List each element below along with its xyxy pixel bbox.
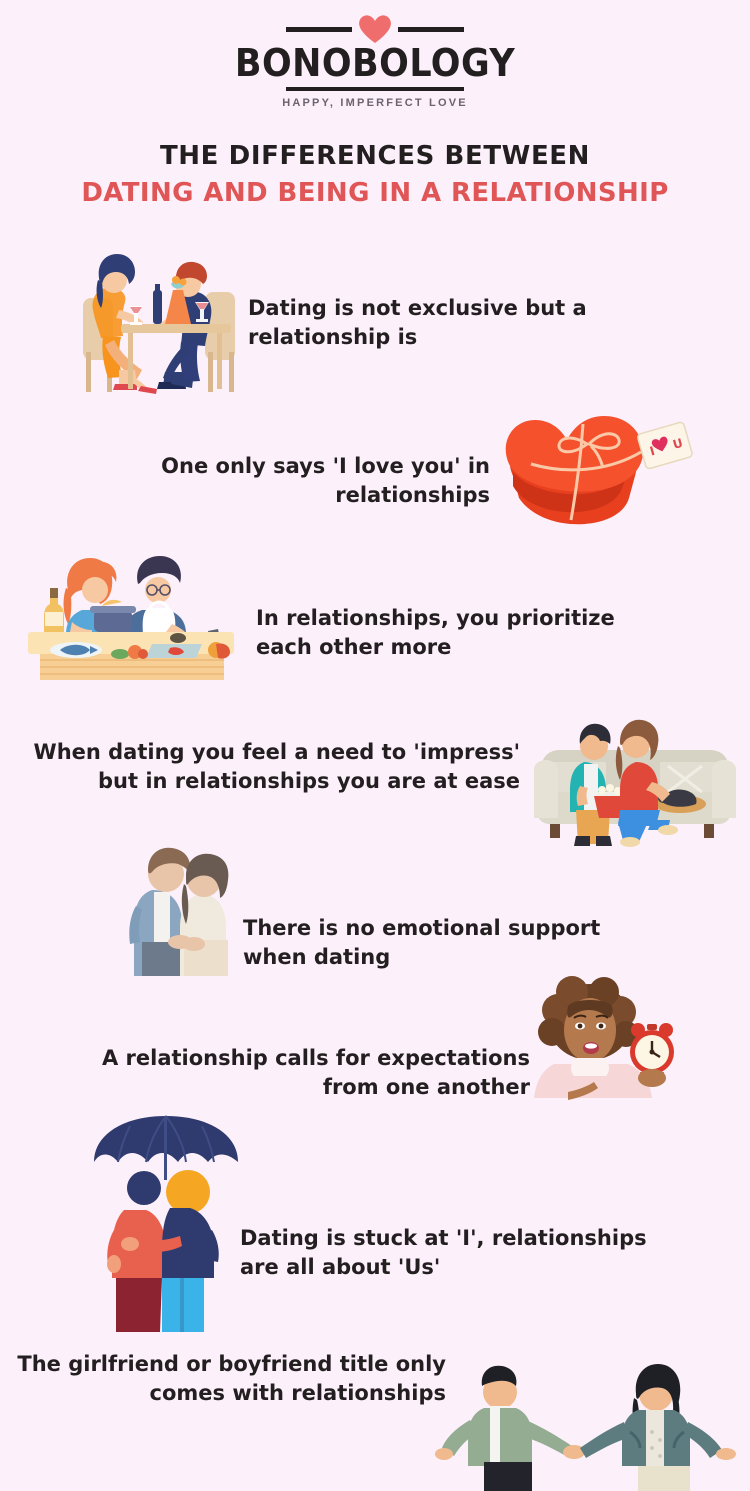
- logo-top-row: [0, 14, 750, 44]
- couple-under-umbrella-illustration: [84, 1112, 249, 1332]
- dinner-date-illustration: [45, 240, 245, 392]
- item-8-caption: The girlfriend or boyfriend title only c…: [0, 1350, 446, 1408]
- item-2: One only says 'I love you' in relationsh…: [0, 396, 750, 541]
- couple-holding-hands-illustration: [438, 1340, 750, 1491]
- item-7: Dating is stuck at 'I', relationships ar…: [0, 1112, 750, 1332]
- brand-name: BONOBOLOGY: [30, 42, 720, 84]
- brand-tagline: HAPPY, IMPERFECT LOVE: [0, 97, 750, 109]
- logo-underline: [286, 87, 464, 91]
- item-5-caption: There is no emotional support when datin…: [243, 914, 613, 972]
- infographic-page: BONOBOLOGY HAPPY, IMPERFECT LOVE THE DIF…: [0, 0, 750, 1491]
- item-3: In relationships, you prioritize each ot…: [0, 528, 750, 683]
- logo-left-rule: [286, 27, 352, 32]
- couple-on-couch-illustration: [532, 704, 737, 846]
- heart-icon: [358, 14, 392, 44]
- couple-embracing-illustration: [122, 846, 262, 976]
- item-7-caption: Dating is stuck at 'I', relationships ar…: [240, 1224, 690, 1282]
- item-1-caption: Dating is not exclusive but a relationsh…: [248, 294, 598, 352]
- item-6: A relationship calls for expectations fr…: [0, 980, 750, 1100]
- item-4: When dating you feel a need to 'impress'…: [0, 700, 750, 848]
- heart-gift-box-illustration: I U: [495, 402, 720, 542]
- item-5: There is no emotional support when datin…: [0, 846, 750, 978]
- title-line-2: DATING AND BEING IN A RELATIONSHIP: [0, 176, 750, 210]
- item-8: The girlfriend or boyfriend title only c…: [0, 1330, 750, 1491]
- item-1: Dating is not exclusive but a relationsh…: [0, 236, 750, 396]
- woman-with-alarm-clock-illustration: [528, 980, 680, 1098]
- item-4-caption: When dating you feel a need to 'impress'…: [10, 738, 520, 796]
- page-title: THE DIFFERENCES BETWEEN DATING AND BEING…: [0, 140, 750, 210]
- logo-right-rule: [398, 27, 464, 32]
- item-3-caption: In relationships, you prioritize each ot…: [256, 604, 626, 662]
- title-line-1: THE DIFFERENCES BETWEEN: [0, 140, 750, 172]
- brand-logo: BONOBOLOGY HAPPY, IMPERFECT LOVE: [0, 14, 750, 109]
- item-2-caption: One only says 'I love you' in relationsh…: [140, 452, 490, 510]
- item-6-caption: A relationship calls for expectations fr…: [90, 1044, 530, 1102]
- couple-cooking-illustration: [20, 528, 240, 680]
